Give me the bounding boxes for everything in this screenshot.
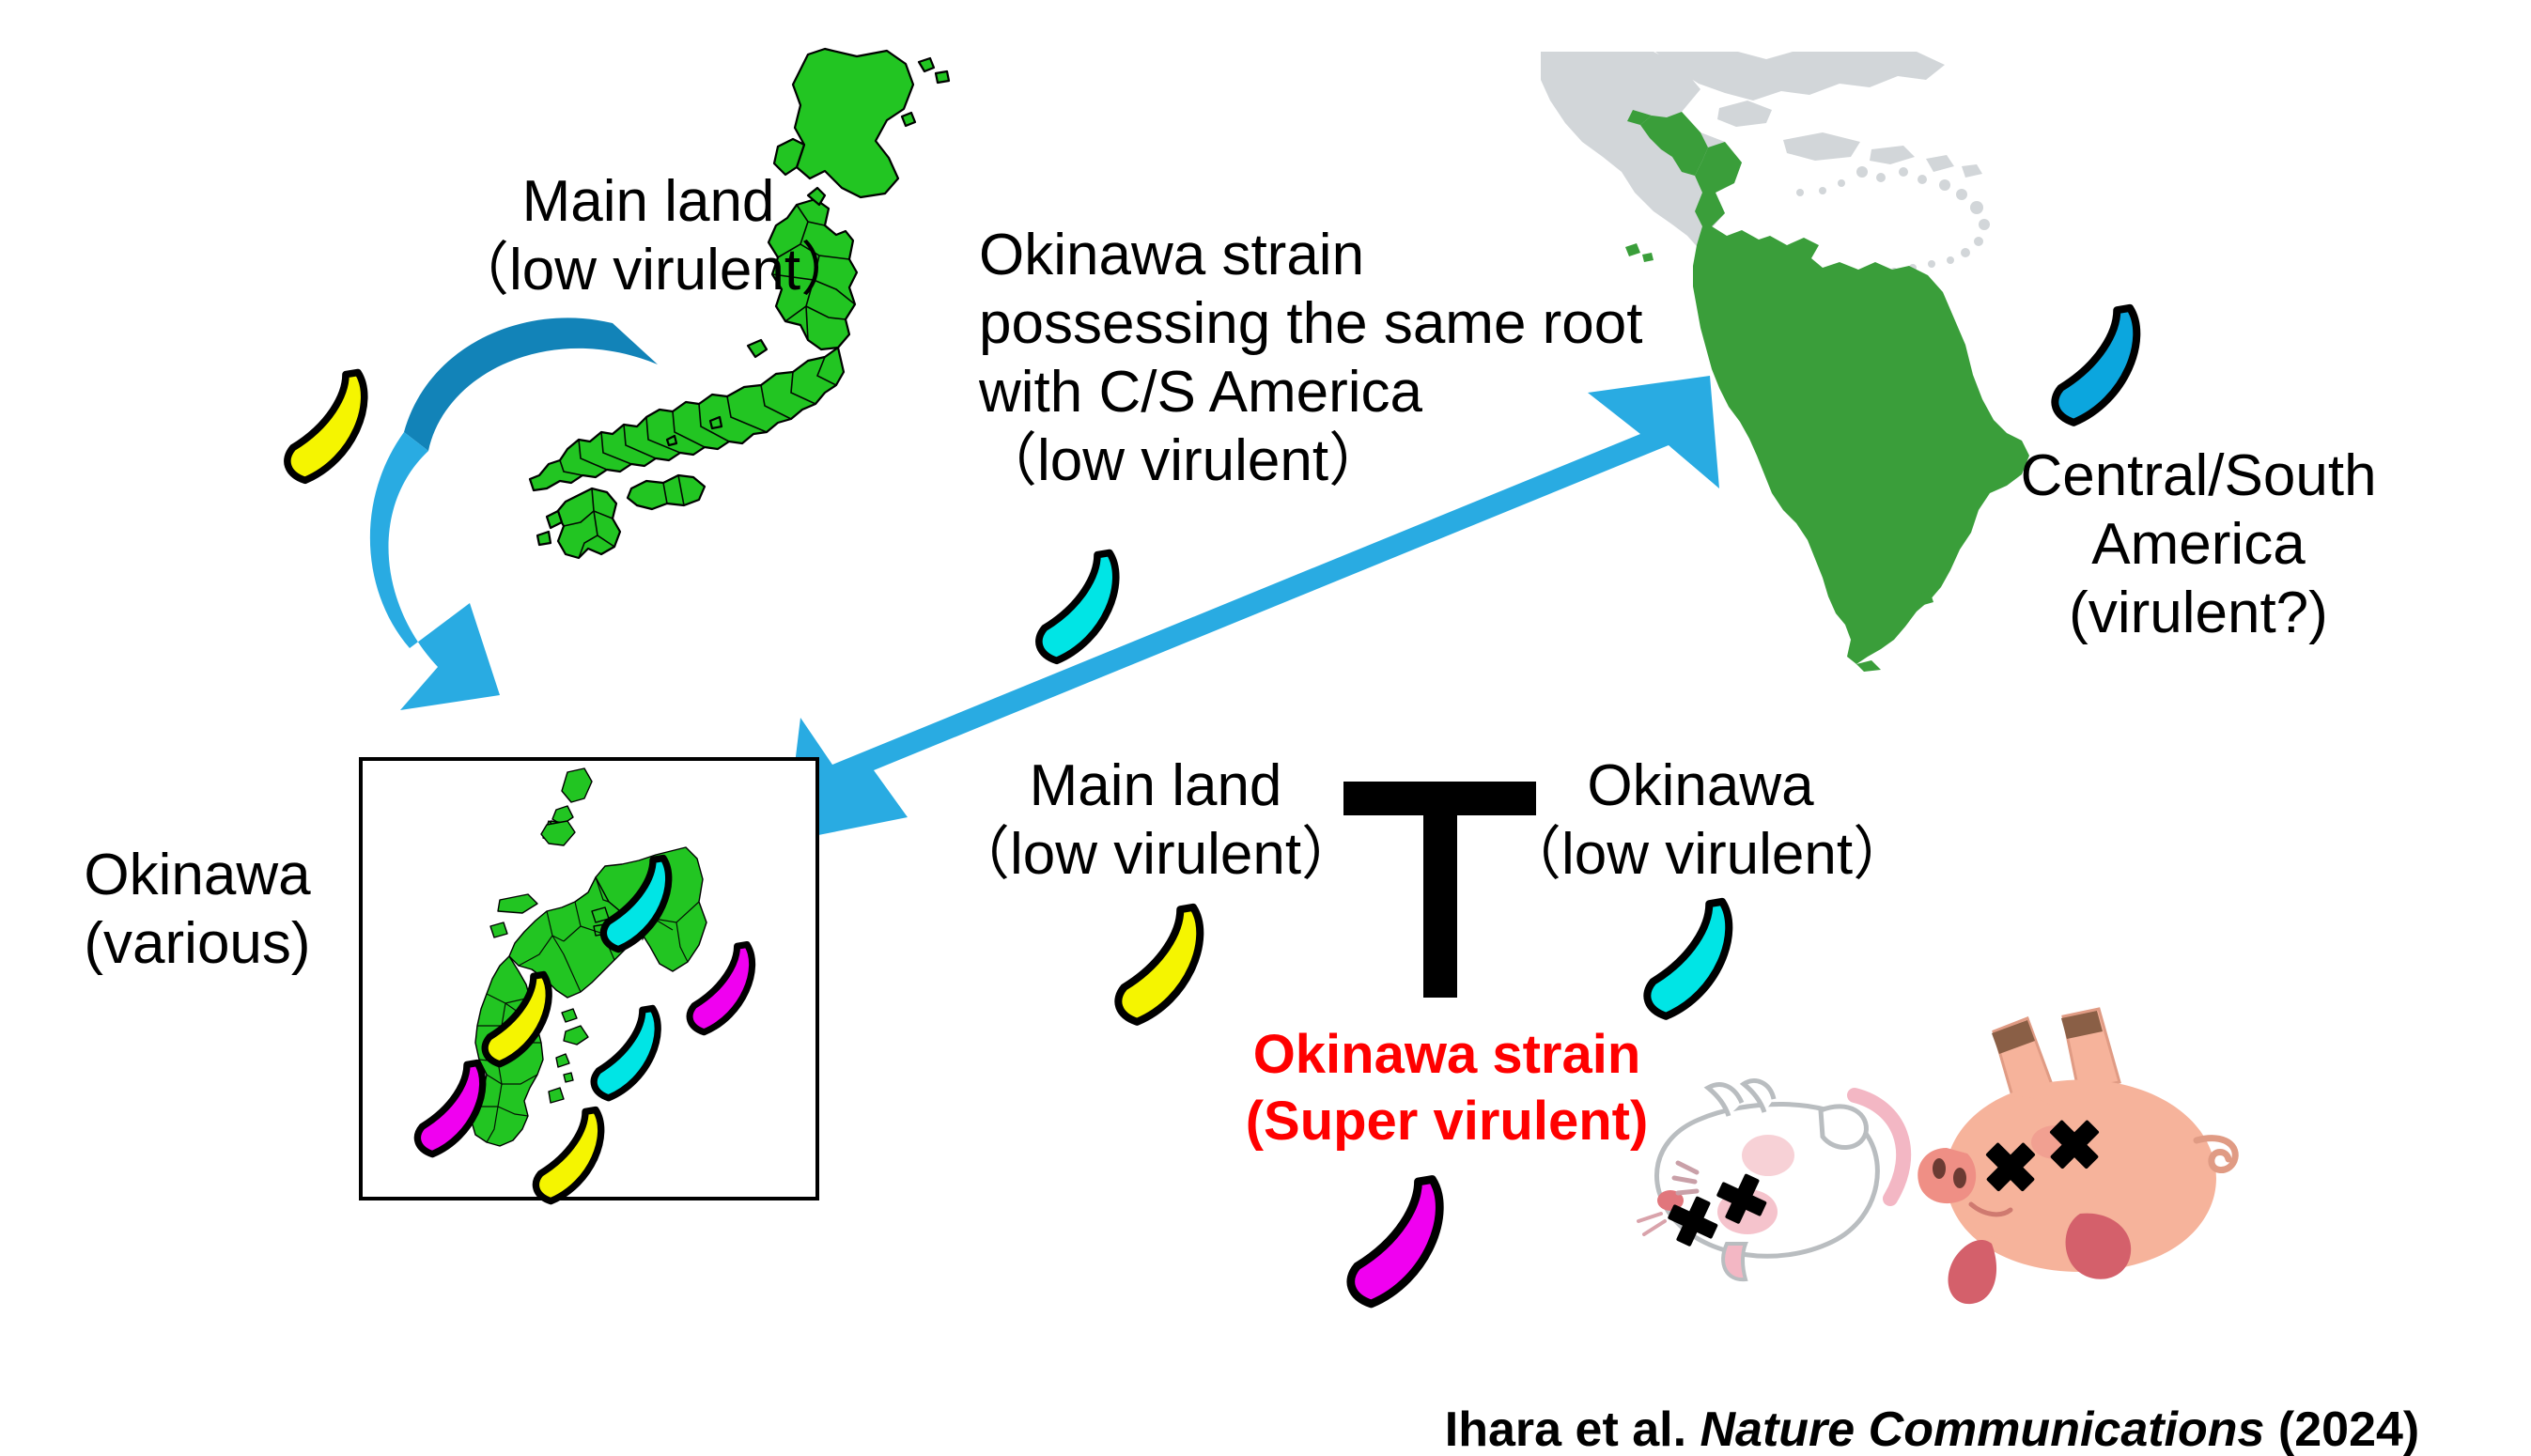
crescent-cyan-box-2 — [590, 1003, 675, 1105]
citation: Ihara et al. Nature Communications (2024… — [1390, 1345, 2419, 1456]
crescent-cyan-okinawa-bottom — [1642, 894, 1750, 1026]
label-okinawa-various: Okinawa (various) — [19, 841, 376, 978]
citation-journal: Nature Communications — [1700, 1402, 2264, 1456]
citation-authors: Ihara et al. — [1445, 1402, 1700, 1456]
label-okinawa-bottom: Okinawa （low virulent） — [1503, 751, 1898, 889]
crescent-blue-america — [2050, 301, 2158, 432]
crescent-yellow-mainland-top — [282, 366, 385, 488]
crescent-yellow-box-1 — [481, 969, 566, 1071]
crescent-cyan-okinawa-root — [1033, 547, 1137, 669]
curved-arrow-mainland-to-okinawa — [244, 254, 733, 761]
label-super-virulent: Okinawa strain (Super virulent) — [1203, 1022, 1691, 1155]
label-mainland-bottom: Main land （low virulent） — [949, 751, 1362, 889]
crescent-magenta-box-1 — [686, 939, 769, 1039]
crescent-cyan-box-1 — [599, 853, 686, 956]
crescent-magenta-box-2 — [413, 1058, 500, 1161]
crescent-yellow-box-2 — [532, 1105, 618, 1208]
citation-year: (2024) — [2264, 1402, 2419, 1456]
figure-canvas: Main land （low virulent） Okinawa strain … — [0, 0, 2531, 1456]
label-central-south-america: Central/South America (virulent?) — [1935, 441, 2461, 647]
label-mainland-top: Main land （low virulent） — [451, 167, 846, 304]
crescent-yellow-mainland-bottom — [1113, 900, 1221, 1031]
crescent-magenta-super-virulent — [1345, 1172, 1463, 1313]
label-okinawa-strain-root: Okinawa strain possessing the same root … — [979, 221, 1731, 496]
dead-pig-illustration — [1913, 992, 2289, 1311]
